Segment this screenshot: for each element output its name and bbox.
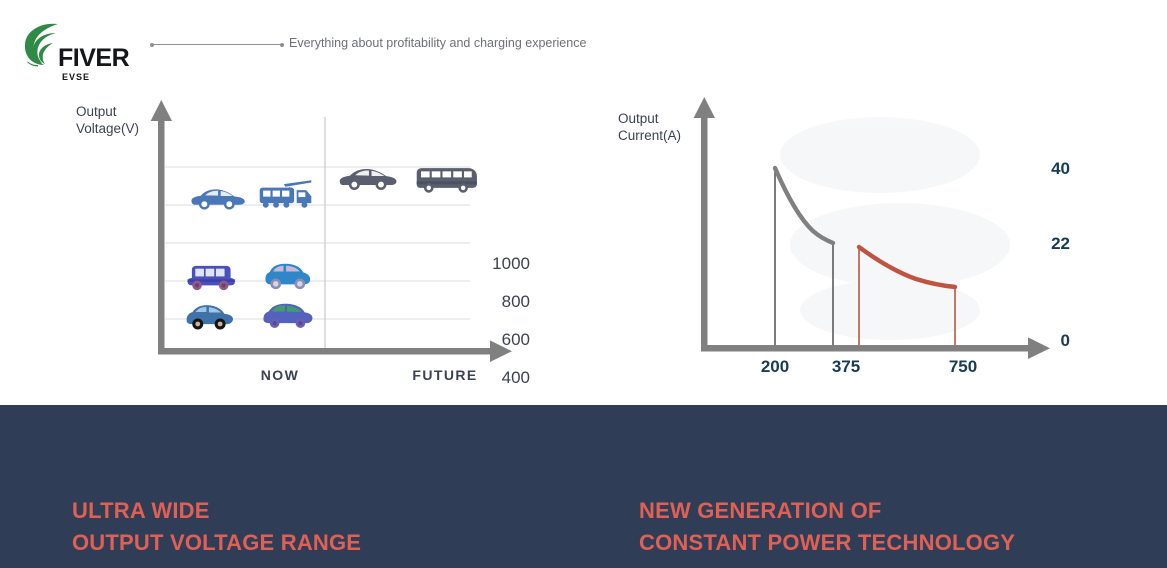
voltage-plot-area: [60, 95, 530, 395]
output-current-chart: Output Current(A) 40 22 0 200 375 750: [600, 95, 1070, 395]
y-axis: [694, 97, 715, 349]
tagline-connector-line: [152, 44, 282, 45]
background-watermark: [780, 117, 1010, 340]
vehicle-icon-tram-blue: [260, 180, 312, 207]
vehicle-icon-minivan-purple: [188, 266, 235, 290]
brand-logo: FIVER EVSE: [20, 18, 150, 74]
logo-wordmark: FIVER: [58, 46, 129, 71]
banner-heading-left: ULTRA WIDE OUTPUT VOLTAGE RANGE: [72, 495, 361, 559]
bottom-banner: ULTRA WIDE OUTPUT VOLTAGE RANGE NEW GENE…: [0, 405, 1167, 568]
gridlines: [165, 167, 470, 319]
page-header: FIVER EVSE Everything about profitabilit…: [0, 0, 1167, 88]
tagline-text: Everything about profitability and charg…: [289, 36, 586, 50]
y-axis: [151, 100, 172, 353]
banner-heading-right: NEW GENERATION OF CONSTANT POWER TECHNOL…: [639, 495, 1015, 559]
vehicle-icon-sports-car-gray: [340, 169, 397, 190]
output-voltage-chart: Output Voltage(V) 1000 800 600 400 200 0…: [60, 95, 530, 395]
vehicle-icon-hatchback-blue: [265, 264, 310, 289]
vehicle-icon-compact-green: [263, 304, 312, 328]
vehicle-icon-sports-car-blue: [191, 189, 244, 209]
vehicle-icon-beetle-blue: [187, 305, 233, 329]
vehicle-icon-bus-gray: [417, 168, 477, 193]
x-axis: [158, 340, 512, 362]
current-plot-area: [600, 95, 1070, 395]
x-axis: [701, 337, 1050, 359]
logo-subtext: EVSE: [62, 73, 90, 82]
